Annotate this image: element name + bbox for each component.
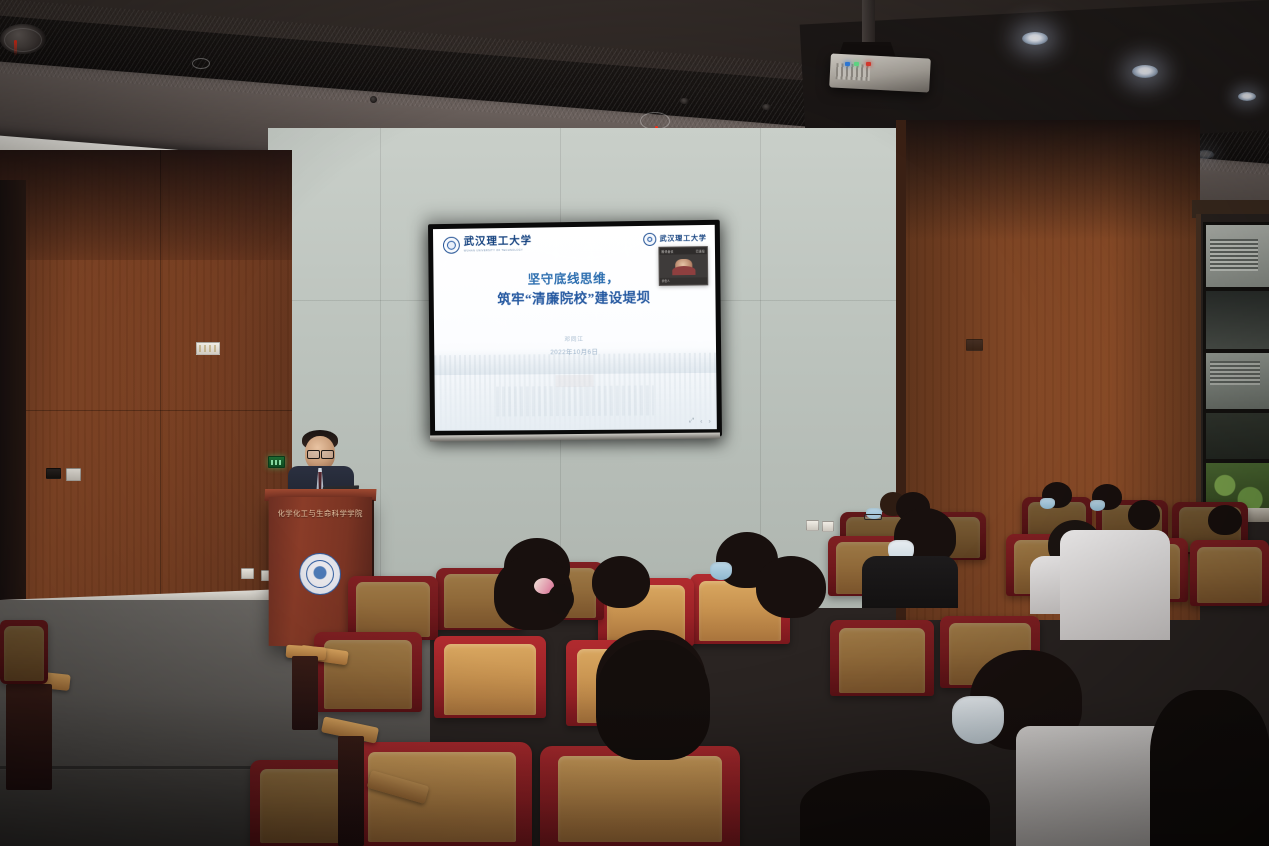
projector-ready-led: [854, 62, 859, 66]
wall-light-switch[interactable]: [66, 468, 81, 481]
seat-row3-c4[interactable]: [348, 576, 438, 640]
ceiling-sprinkler-head: [370, 96, 377, 103]
slide-campus-watermark: [434, 353, 717, 431]
projection-screen: 武汉理工大学 WUHAN UNIVERSITY OF TECHNOLOGY 武汉…: [428, 220, 722, 438]
ceiling-sprinkler-head-3: [762, 104, 771, 110]
ceiling-sprinkler-head-2: [680, 98, 689, 104]
wall-socket-1[interactable]: [241, 568, 254, 579]
ceiling-downlight-3: [1238, 92, 1256, 101]
ceiling-downlight-1: [1022, 32, 1048, 45]
speaker-glasses-left: [307, 450, 320, 459]
audience-head-b5: [1128, 500, 1160, 530]
lecture-hall-scene: 武汉理工大学 WUHAN UNIVERSITY OF TECHNOLOGY 武汉…: [0, 0, 1269, 846]
window-pane-2: [1203, 288, 1269, 352]
seat-pad: [839, 628, 924, 693]
audience-torso-f3: [1060, 530, 1170, 640]
audience-torso-m1: [862, 556, 958, 608]
audience-head-near-1: [596, 640, 710, 760]
seat-far-left-1[interactable]: [0, 620, 48, 684]
video-window-titlebar: 腾讯会议 已连接: [659, 247, 707, 255]
audience-mask-c3: [710, 562, 732, 580]
university-seal-icon-small: [643, 233, 656, 246]
seat-support-1: [292, 656, 318, 730]
wall-data-plate[interactable]: [196, 342, 220, 355]
audience-mask-f2: [952, 696, 1004, 744]
slide-title: 坚守底线思维， 筑牢“清廉院校”建设堤坝: [433, 269, 715, 309]
next-slide-icon[interactable]: ›: [708, 418, 710, 425]
seat-support-2: [338, 736, 364, 846]
emergency-exit-sign: [268, 456, 285, 468]
left-wall-shadow: [0, 150, 292, 260]
university-logo-subtext: WUHAN UNIVERSITY OF TECHNOLOGY: [464, 248, 532, 252]
seat-pad: [260, 769, 350, 843]
projector-power-led: [845, 62, 850, 66]
seat-pad: [356, 582, 430, 637]
window-pane-1: [1203, 222, 1269, 290]
expand-icon[interactable]: ⤢: [689, 417, 694, 425]
university-seal-icon: [443, 237, 460, 254]
seat-pad: [444, 644, 536, 715]
slide-presenter-name: 邓同江: [434, 334, 716, 345]
podium-sign-text: 化学化工与生命科学学院: [269, 508, 372, 519]
audience-head-c2: [592, 556, 650, 608]
speaker-glasses-right: [321, 450, 334, 459]
projector-vent-icon: [836, 63, 871, 81]
podium-university-emblem-icon: [299, 553, 341, 595]
wall-outlet-dark[interactable]: [46, 468, 61, 479]
audience-head-c4: [756, 556, 826, 618]
right-wall-shadow: [900, 120, 1200, 240]
ceiling-led-indicator: [14, 40, 17, 56]
seat-pad: [558, 756, 722, 842]
seat-row2-c2[interactable]: [434, 636, 546, 718]
video-window-title: 腾讯会议: [661, 249, 673, 253]
audience-head-near-3: [1150, 690, 1269, 846]
seat-support-left-1: [6, 684, 52, 790]
hair-bun-1: [548, 584, 574, 614]
wall-plate-ports-icon: [199, 345, 217, 352]
exterior-louver-icon: [1210, 239, 1258, 271]
back-wall-socket-2[interactable]: [822, 521, 834, 532]
seat-pad: [1197, 547, 1262, 604]
back-wall-socket-1[interactable]: [806, 520, 819, 531]
right-wall-fitting: [966, 339, 983, 351]
corner-logo-text: 武汉理工大学: [659, 235, 706, 243]
window-pane-4: [1203, 410, 1269, 462]
projector-status-led: [866, 62, 871, 66]
seat-pad: [4, 626, 43, 681]
seat-row2-c3[interactable]: [314, 632, 422, 712]
wall-seam-1: [380, 128, 381, 598]
slide-navigation-controls[interactable]: ⤢ ‹ ›: [689, 417, 711, 425]
ceiling-downlight-2: [1132, 65, 1158, 78]
left-wall-seam-v: [160, 150, 161, 620]
seat-front-1[interactable]: [352, 742, 532, 846]
prev-slide-icon[interactable]: ‹: [700, 418, 702, 425]
seat-row2-r1[interactable]: [830, 620, 934, 696]
window-pane-3: [1203, 350, 1269, 412]
slide-title-line2: 筑牢“清廉院校”建设堤坝: [434, 287, 716, 310]
wall-seam-3: [760, 128, 761, 598]
presentation-slide: 武汉理工大学 WUHAN UNIVERSITY OF TECHNOLOGY 武汉…: [433, 225, 717, 431]
ceiling-sprinkler-icon: [192, 58, 210, 69]
exterior-louver-icon-2: [1210, 361, 1260, 385]
far-left-dark-wall: [0, 180, 26, 650]
audience-mask-b1: [1040, 498, 1055, 509]
seat-pad: [368, 752, 516, 841]
audience-glasses-b4: [864, 514, 882, 520]
slide-university-logo: 武汉理工大学 WUHAN UNIVERSITY OF TECHNOLOGY: [443, 236, 532, 254]
left-wall-seam-h: [20, 410, 292, 411]
audience-mask-b2: [1090, 500, 1105, 511]
seat-front-2[interactable]: [540, 746, 740, 846]
ceiling-speaker-ring: [4, 28, 42, 52]
university-logo-text: 武汉理工大学: [464, 237, 533, 248]
slide-corner-logo: 武汉理工大学: [643, 232, 706, 246]
slide-building-graphic: [496, 385, 654, 416]
slide-metadata: 邓同江 2022年10月6日: [434, 334, 716, 358]
projector-mount-arm: [862, 0, 875, 46]
audience-head-b6: [1208, 505, 1242, 535]
video-window-status: 已连接: [696, 249, 705, 253]
audience-head-near-2: [800, 770, 990, 846]
seat-mid-r4[interactable]: [1190, 540, 1269, 606]
